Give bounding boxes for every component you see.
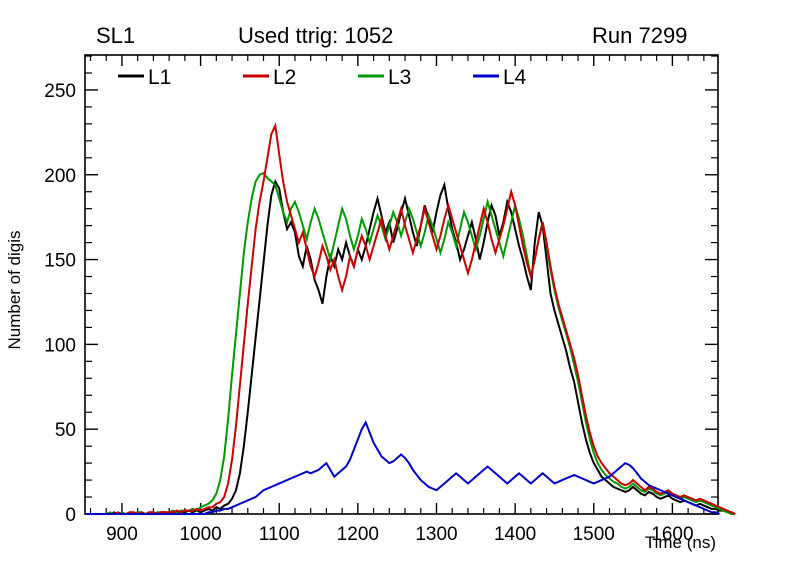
y-tick-label: 100: [44, 335, 76, 356]
x-tick-label: 1200: [337, 524, 379, 545]
legend: L1L2L3L4: [118, 66, 527, 89]
y-tick-label: 150: [44, 251, 76, 272]
y-tick-label: 200: [44, 166, 76, 187]
x-tick-group: [91, 55, 704, 514]
y-tick-label: 0: [65, 505, 76, 526]
root-canvas: SL1 Used ttrig: 1052 Run 7299 Number of …: [0, 0, 796, 572]
y-axis-title: Number of digis: [5, 230, 24, 349]
x-tick-label: 1300: [415, 524, 457, 545]
series-group: [87, 126, 736, 514]
y-tick-labels: 050100150200250: [44, 81, 76, 526]
x-tick-label: 900: [106, 524, 138, 545]
y-tick-label: 50: [55, 420, 76, 441]
plot-area: Number of digis Time (ns) 90010001100120…: [0, 0, 796, 572]
series-line-l2: [87, 126, 736, 514]
x-tick-label: 1500: [573, 524, 615, 545]
legend-label-l1: L1: [148, 66, 171, 89]
y-tick-group: [85, 56, 718, 514]
plot-frame: [85, 55, 718, 514]
x-tick-label: 1400: [494, 524, 536, 545]
x-tick-label: 1600: [651, 524, 693, 545]
legend-label-l3: L3: [388, 66, 411, 89]
legend-label-l4: L4: [503, 66, 527, 89]
series-line-l4: [87, 422, 720, 514]
x-tick-label: 1000: [179, 524, 221, 545]
x-tick-label: 1100: [259, 524, 300, 545]
series-line-l1: [87, 182, 736, 514]
x-tick-labels: 9001000110012001300140015001600: [106, 524, 693, 545]
y-tick-label: 250: [44, 81, 76, 102]
legend-label-l2: L2: [273, 66, 296, 89]
